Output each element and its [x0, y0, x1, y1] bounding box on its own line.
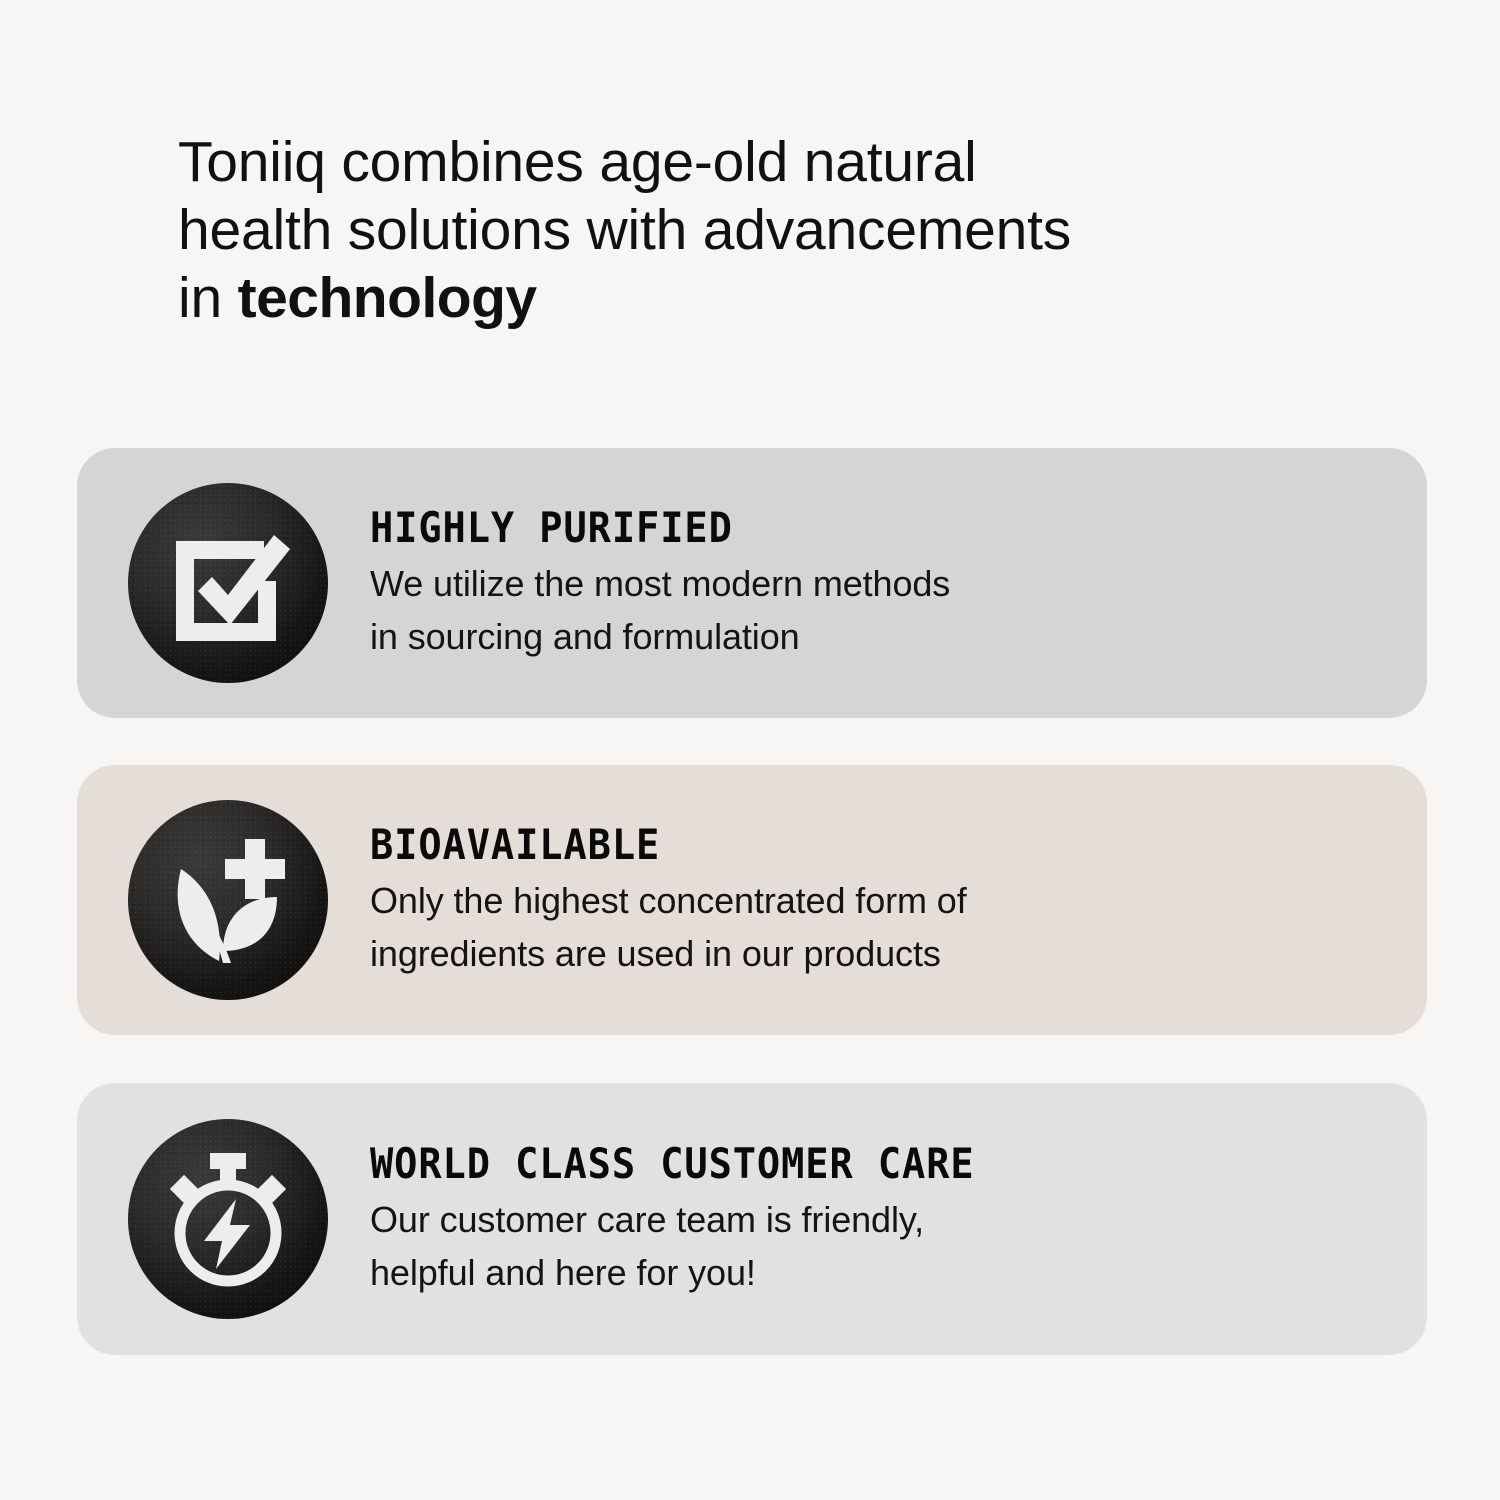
feature-card-bioavailable: BIOAVAILABLE Only the highest concentrat…	[77, 765, 1427, 1035]
feature-card-title: HIGHLY PURIFIED	[370, 503, 904, 553]
page-headline: Toniiq combines age-old natural health s…	[178, 128, 1298, 332]
description-line-2: ingredients are used in our products	[370, 927, 967, 980]
leaf-plus-icon	[128, 800, 328, 1000]
feature-card-world-class-customer-care: WORLD CLASS CUSTOMER CARE Our customer c…	[77, 1083, 1427, 1355]
headline-line-3-prefix: in	[178, 266, 238, 330]
feature-card-list: HIGHLY PURIFIED We utilize the most mode…	[77, 448, 1427, 1355]
feature-card-highly-purified: HIGHLY PURIFIED We utilize the most mode…	[77, 448, 1427, 718]
headline-line-3-emphasis: technology	[238, 266, 537, 330]
description-line-2: helpful and here for you!	[370, 1246, 1027, 1299]
checkbox-check-icon	[128, 483, 328, 683]
feature-card-text: BIOAVAILABLE Only the highest concentrat…	[370, 820, 997, 980]
headline-line-2: health solutions with advancements	[178, 196, 1298, 264]
feature-card-description: Our customer care team is friendly, help…	[370, 1193, 1027, 1299]
stopwatch-bolt-icon	[128, 1119, 328, 1319]
feature-card-description: Only the highest concentrated form of in…	[370, 874, 967, 980]
feature-card-description: We utilize the most modern methods in so…	[370, 557, 950, 663]
feature-card-text: HIGHLY PURIFIED We utilize the most mode…	[370, 503, 980, 663]
feature-card-title: BIOAVAILABLE	[370, 820, 919, 870]
headline-line-3: in technology	[178, 264, 1298, 332]
description-line-1: Only the highest concentrated form of	[370, 874, 967, 927]
description-line-1: Our customer care team is friendly,	[370, 1193, 1027, 1246]
description-line-2: in sourcing and formulation	[370, 610, 950, 663]
description-line-1: We utilize the most modern methods	[370, 557, 950, 610]
feature-card-text: WORLD CLASS CUSTOMER CARE Our customer c…	[370, 1139, 1057, 1299]
feature-card-title: WORLD CLASS CUSTOMER CARE	[370, 1139, 975, 1189]
headline-line-1: Toniiq combines age-old natural	[178, 128, 1298, 196]
